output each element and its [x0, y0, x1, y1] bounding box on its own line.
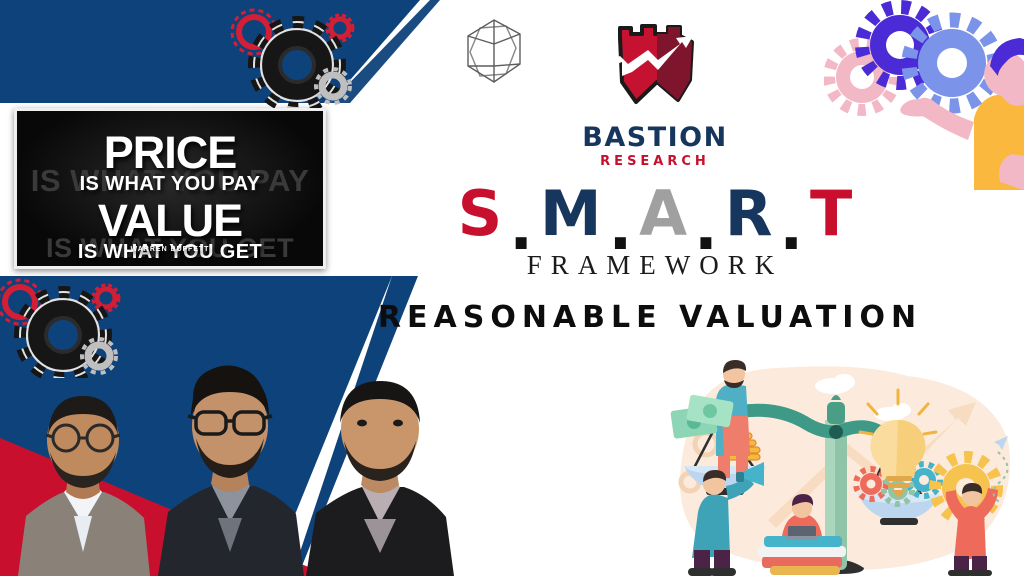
gear-cluster-icon [228, 8, 358, 108]
person-holding-gears-illustration [824, 0, 1024, 190]
smart-letter-a: A [639, 183, 687, 245]
fortress-rising-arrow-icon [598, 22, 716, 122]
team-member-photo [8, 366, 158, 576]
quote-line-value: VALUE [17, 195, 323, 247]
gear-cluster-icon [0, 278, 124, 378]
smart-letter-s: S [458, 183, 503, 245]
gear-cluster-svg [228, 8, 358, 108]
logo-wordmark: BASTION [570, 122, 740, 153]
portrait-center-svg [150, 346, 310, 576]
balance-scale-value-illustration [658, 360, 1022, 576]
scale-svg [658, 360, 1022, 576]
quote-attribution: WARREN BUFFETT [17, 246, 323, 253]
logo-mark-svg [598, 22, 716, 122]
polyhedron-svg [458, 14, 530, 90]
warren-buffett-quote-card: IS WHAT YOU PAY IS WHAT YOU GET PRICE IS… [14, 108, 326, 269]
logo-subtitle: RESEARCH [570, 154, 740, 169]
page-title: REASONABLE VALUATION [330, 300, 970, 335]
team-member-photo [150, 346, 310, 576]
smart-letter-t: T [810, 183, 852, 245]
wireframe-polyhedron-icon [458, 14, 530, 90]
bastion-logo: BASTION RESEARCH [570, 22, 740, 177]
gearman-svg [824, 0, 1024, 190]
framework-subtitle: FRAMEWORK [455, 250, 855, 281]
smart-letter-m: M [540, 183, 602, 245]
portrait-right-svg [300, 361, 460, 576]
team-member-photo [300, 361, 460, 576]
gear-cluster-svg [0, 278, 124, 378]
portrait-left-svg [8, 366, 158, 576]
smart-letter-r: R [725, 183, 773, 245]
smart-title: S . M . A . R . T [455, 178, 855, 250]
quote-line-price: PRICE [17, 127, 323, 179]
quote-line-pay: IS WHAT YOU PAY [17, 173, 323, 196]
thumbnail-canvas: IS WHAT YOU PAY IS WHAT YOU GET PRICE IS… [0, 0, 1024, 576]
